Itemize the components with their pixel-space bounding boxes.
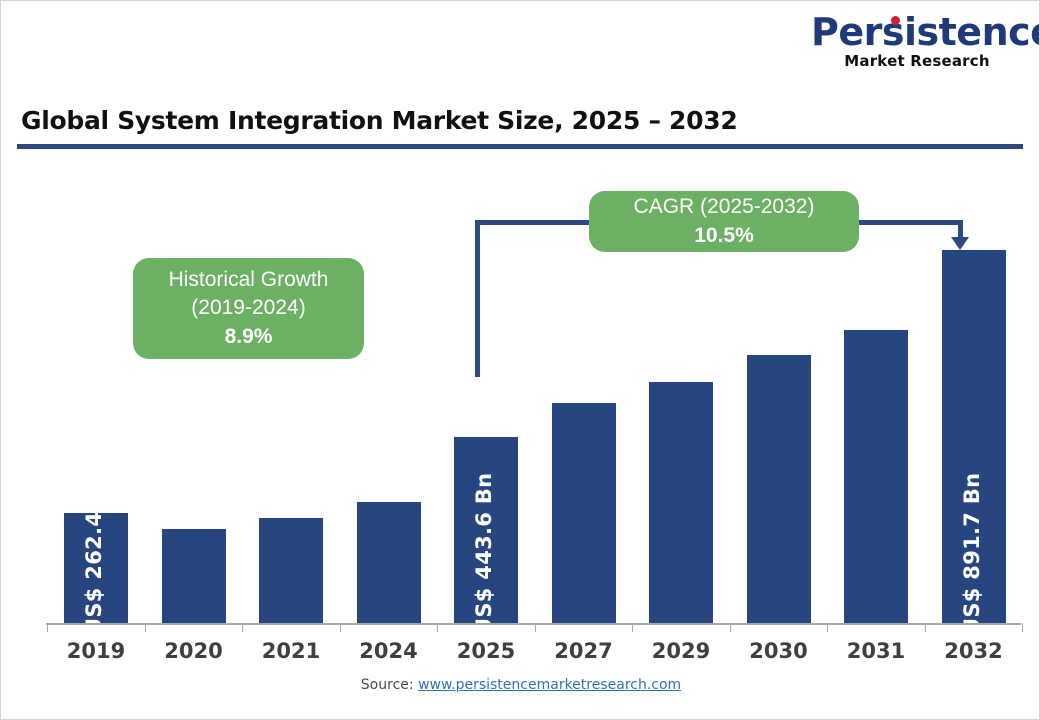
x-axis-tick-mark xyxy=(632,623,633,632)
bar-2024[interactable] xyxy=(357,502,421,623)
cagr-connector-vertical-left xyxy=(475,220,480,377)
historical-growth-value: 8.9% xyxy=(225,322,273,351)
bar-2030[interactable] xyxy=(747,355,811,623)
source-footer: Source: www.persistencemarketresearch.co… xyxy=(1,677,1040,693)
x-axis-tick-mark xyxy=(145,623,146,632)
bar-chart: US$ 262.4 Bn US$ 443.6 Bn US$ 891.7 Bn 2… xyxy=(1,1,1040,720)
bar-value-label-2032: US$ 891.7 Bn xyxy=(960,473,984,635)
x-axis-tick-2032: 2032 xyxy=(932,639,1016,663)
x-axis-tick-mark xyxy=(242,623,243,632)
x-axis-tick-mark xyxy=(340,623,341,632)
cagr-connector-horizontal-left xyxy=(475,220,597,225)
bar-value-label-2025: US$ 443.6 Bn xyxy=(472,473,496,635)
x-axis-tick-mark xyxy=(47,623,48,632)
bar-2020[interactable] xyxy=(162,529,226,623)
cagr-callout: CAGR (2025-2032) 10.5% xyxy=(589,191,859,252)
cagr-value: 10.5% xyxy=(694,221,754,250)
x-axis-tick-2030: 2030 xyxy=(737,639,821,663)
chart-page: Persistence Market Research Global Syste… xyxy=(0,0,1040,720)
source-link[interactable]: www.persistencemarketresearch.com xyxy=(418,677,681,693)
bar-2031[interactable] xyxy=(844,330,908,623)
x-axis-tick-2029: 2029 xyxy=(639,639,723,663)
cagr-connector-horizontal-right xyxy=(853,220,963,225)
x-axis-tick-2020: 2020 xyxy=(152,639,236,663)
bar-2021[interactable] xyxy=(259,518,323,623)
historical-growth-line2: (2019-2024) xyxy=(191,294,305,322)
x-axis-tick-2031: 2031 xyxy=(834,639,918,663)
source-label: Source: xyxy=(361,677,414,693)
x-axis-tick-2019: 2019 xyxy=(54,639,138,663)
x-axis-tick-2027: 2027 xyxy=(542,639,626,663)
x-axis-tick-mark xyxy=(925,623,926,632)
cagr-label: CAGR (2025-2032) xyxy=(634,193,815,221)
bar-value-label-2019: US$ 262.4 Bn xyxy=(82,473,106,635)
historical-growth-line1: Historical Growth xyxy=(169,266,329,294)
x-axis-tick-mark xyxy=(535,623,536,632)
x-axis-tick-2025: 2025 xyxy=(444,639,528,663)
x-axis-tick-2021: 2021 xyxy=(249,639,333,663)
historical-growth-callout: Historical Growth (2019-2024) 8.9% xyxy=(133,258,364,359)
x-axis-tick-mark xyxy=(437,623,438,632)
bar-2027[interactable] xyxy=(552,403,616,623)
x-axis-tick-mark xyxy=(730,623,731,632)
bar-2029[interactable] xyxy=(649,382,713,623)
x-axis-line xyxy=(46,623,1021,625)
x-axis-tick-2024: 2024 xyxy=(347,639,431,663)
x-axis-tick-mark xyxy=(827,623,828,632)
x-axis-tick-mark xyxy=(1022,623,1023,632)
cagr-arrow-head xyxy=(951,237,969,250)
